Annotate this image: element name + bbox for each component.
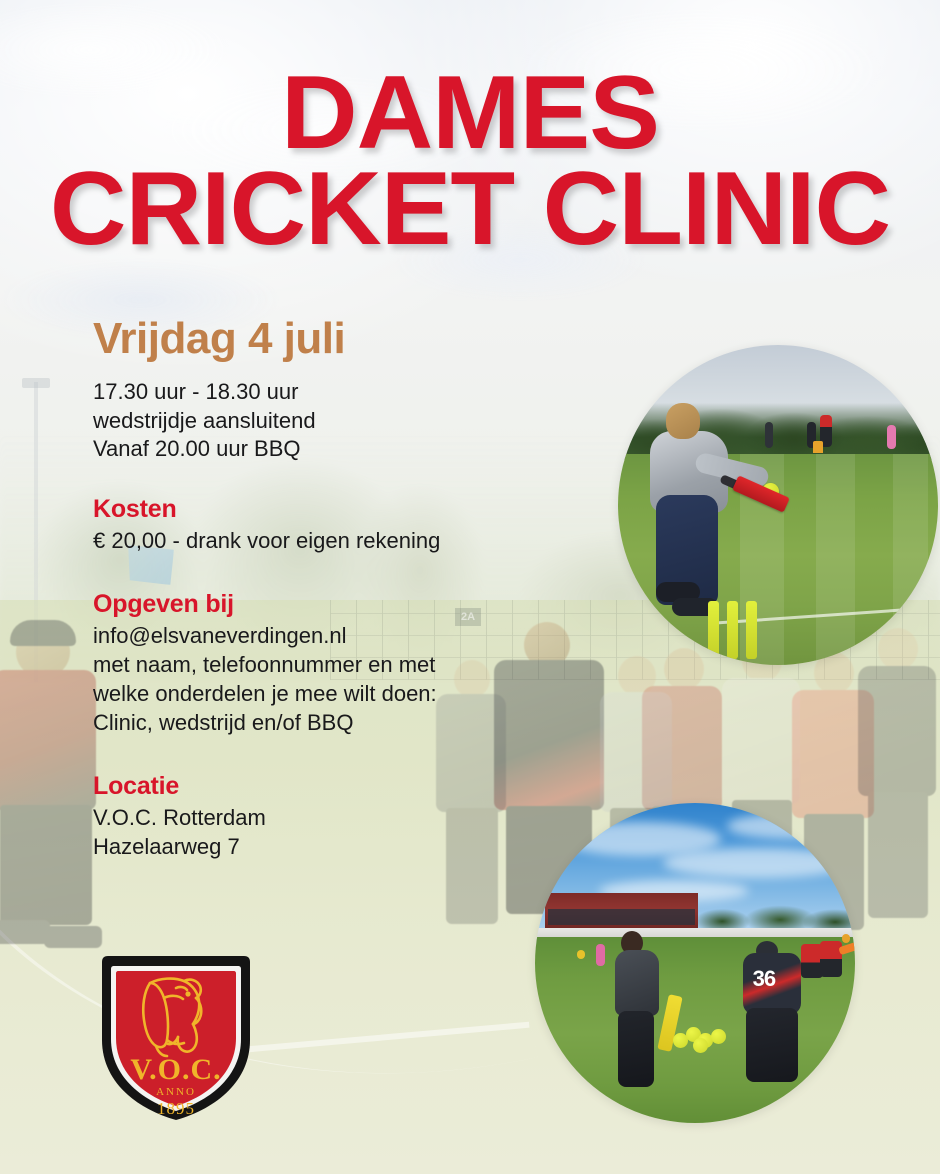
opgeven-body: info@elsvaneverdingen.nl met naam, telef…: [93, 621, 563, 737]
opgeven-line-3: welke onderdelen je mee wilt doen:: [93, 679, 563, 708]
time-line-2: wedstrijdje aansluitend: [93, 407, 563, 436]
locatie-line-2: Hazelaarweg 7: [93, 832, 563, 861]
batting-far-player-1: [765, 422, 773, 448]
poster-canvas: 2A: [0, 0, 940, 1174]
info-column: Vrijdag 4 juli 17.30 uur - 18.30 uur wed…: [93, 316, 563, 887]
training-trees: [689, 899, 855, 931]
kosten-line-1: € 20,00 - drank voor eigen rekening: [93, 526, 563, 555]
batting-far-player-4: [887, 425, 896, 449]
batting-stump-3: [746, 601, 757, 659]
crest-club-text: V.O.C.: [130, 1053, 221, 1086]
poster-title: DAMES CRICKET CLINIC: [0, 66, 940, 257]
batting-stump-2: [727, 601, 738, 659]
crest-anno-label: ANNO: [156, 1086, 196, 1098]
crest-anno-year: 1895: [157, 1099, 195, 1118]
time-line-3: Vanaf 20.00 uur BBQ: [93, 435, 563, 464]
training-ball-pile: [673, 1027, 735, 1049]
kosten-heading: Kosten: [93, 494, 563, 524]
section-locatie: Locatie V.O.C. Rotterdam Hazelaarweg 7: [93, 771, 563, 861]
title-line-1: DAMES: [0, 66, 940, 162]
training-clubhouse-glass: [548, 909, 695, 925]
photo-training-content: 36: [535, 803, 855, 1123]
training-far-player-3: [820, 941, 842, 977]
section-kosten: Kosten € 20,00 - drank voor eigen rekeni…: [93, 494, 563, 555]
locatie-line-1: V.O.C. Rotterdam: [93, 803, 563, 832]
training-coach-torso: [615, 950, 659, 1016]
training-player36-number: 36: [753, 966, 775, 992]
kosten-body: € 20,00 - drank voor eigen rekening: [93, 526, 563, 555]
training-cone-1: [577, 950, 585, 959]
section-opgeven: Opgeven bij info@elsvaneverdingen.nl met…: [93, 589, 563, 737]
photo-circle-training: 36: [535, 803, 855, 1123]
background-person-r4: [856, 628, 940, 934]
locatie-heading: Locatie: [93, 771, 563, 801]
locatie-body: V.O.C. Rotterdam Hazelaarweg 7: [93, 803, 563, 861]
time-line-1: 17.30 uur - 18.30 uur: [93, 378, 563, 407]
title-line-2: CRICKET CLINIC: [0, 162, 940, 258]
opgeven-email[interactable]: info@elsvaneverdingen.nl: [93, 621, 563, 650]
voc-logo: V.O.C. ANNO 1895: [92, 948, 260, 1126]
photo-circle-batting: [618, 345, 938, 665]
batting-stump-1: [708, 601, 719, 659]
opgeven-line-2: met naam, telefoonnummer en met: [93, 650, 563, 679]
training-far-player-1: [596, 944, 605, 966]
batting-cone: [813, 441, 823, 453]
event-date: Vrijdag 4 juli: [93, 316, 563, 362]
photo-batting-content: [618, 345, 938, 665]
opgeven-line-4: Clinic, wedstrijd en/of BBQ: [93, 708, 563, 737]
batting-player-head: [666, 403, 700, 439]
opgeven-heading: Opgeven bij: [93, 589, 563, 619]
training-coach-legs: [618, 1011, 654, 1087]
event-times: 17.30 uur - 18.30 uur wedstrijdje aanslu…: [93, 378, 563, 464]
training-player36-legs: [746, 1008, 798, 1082]
